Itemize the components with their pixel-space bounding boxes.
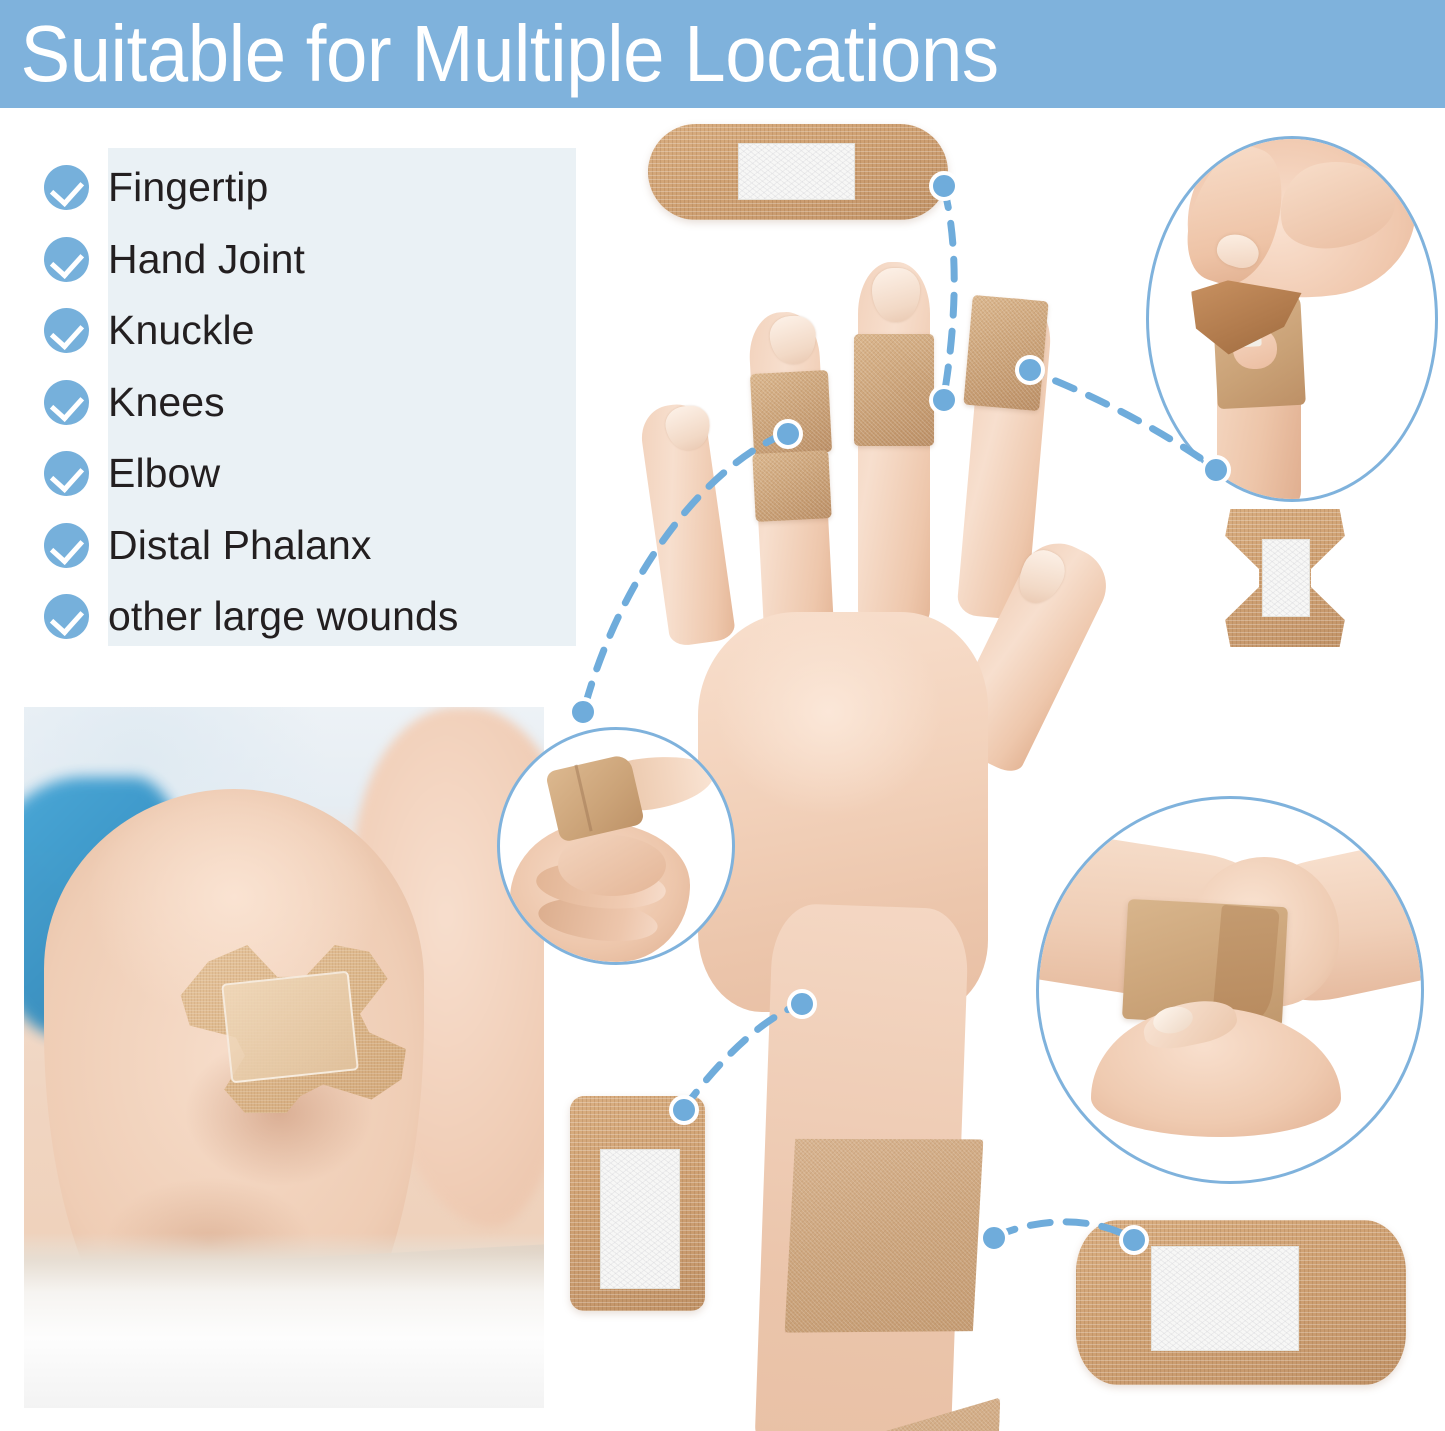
check-circle-icon [44, 451, 89, 496]
finger-bandage [750, 370, 832, 456]
list-item: Distal Phalanx [44, 510, 584, 582]
check-circle-icon [44, 594, 89, 639]
list-item-label: other large wounds [108, 595, 459, 638]
list-item-label: Knees [108, 381, 225, 424]
finger-bandage [752, 450, 831, 522]
list-item: other large wounds [44, 581, 584, 653]
list-item-label: Distal Phalanx [108, 524, 371, 567]
list-item: Knees [44, 367, 584, 439]
list-item-label: Knuckle [108, 309, 255, 352]
inset-elbow-application [1036, 796, 1424, 1184]
list-item-label: Hand Joint [108, 238, 305, 281]
list-item-label: Fingertip [108, 166, 268, 209]
absorbent-pad [1151, 1246, 1299, 1351]
strip-bandage-product [648, 124, 948, 220]
check-circle-icon [44, 380, 89, 425]
connector-dot [568, 697, 598, 727]
wide-oval-bandage-product [1076, 1220, 1406, 1385]
list-item: Fingertip [44, 152, 584, 224]
star-bandage-on-knee [176, 945, 406, 1113]
check-circle-icon [44, 523, 89, 568]
finger-bandage [854, 334, 934, 446]
absorbent-pad [600, 1149, 680, 1289]
list-item: Elbow [44, 438, 584, 510]
finger-bandage [963, 295, 1048, 411]
header-banner: Suitable for Multiple Locations [0, 0, 1445, 108]
inset-bandaged-finger [497, 727, 735, 965]
feature-list: Fingertip Hand Joint Knuckle Knees Elbow… [44, 152, 584, 652]
check-circle-icon [44, 165, 89, 210]
page-title: Suitable for Multiple Locations [0, 14, 999, 94]
infographic-page: Suitable for Multiple Locations Fingerti… [0, 0, 1445, 1431]
inset-fingertip-application [1146, 136, 1438, 502]
absorbent-pad [738, 143, 855, 200]
butterfly-bandage-product [1220, 503, 1350, 653]
list-item: Knuckle [44, 295, 584, 367]
square-bandage-product [570, 1096, 705, 1311]
wrist-bandage-upper [785, 1133, 984, 1340]
list-item-label: Elbow [108, 452, 220, 495]
knee-with-star-bandage-photo [24, 707, 544, 1408]
check-circle-icon [44, 237, 89, 282]
list-item: Hand Joint [44, 224, 584, 296]
check-circle-icon [44, 308, 89, 353]
absorbent-pad [1262, 539, 1310, 617]
